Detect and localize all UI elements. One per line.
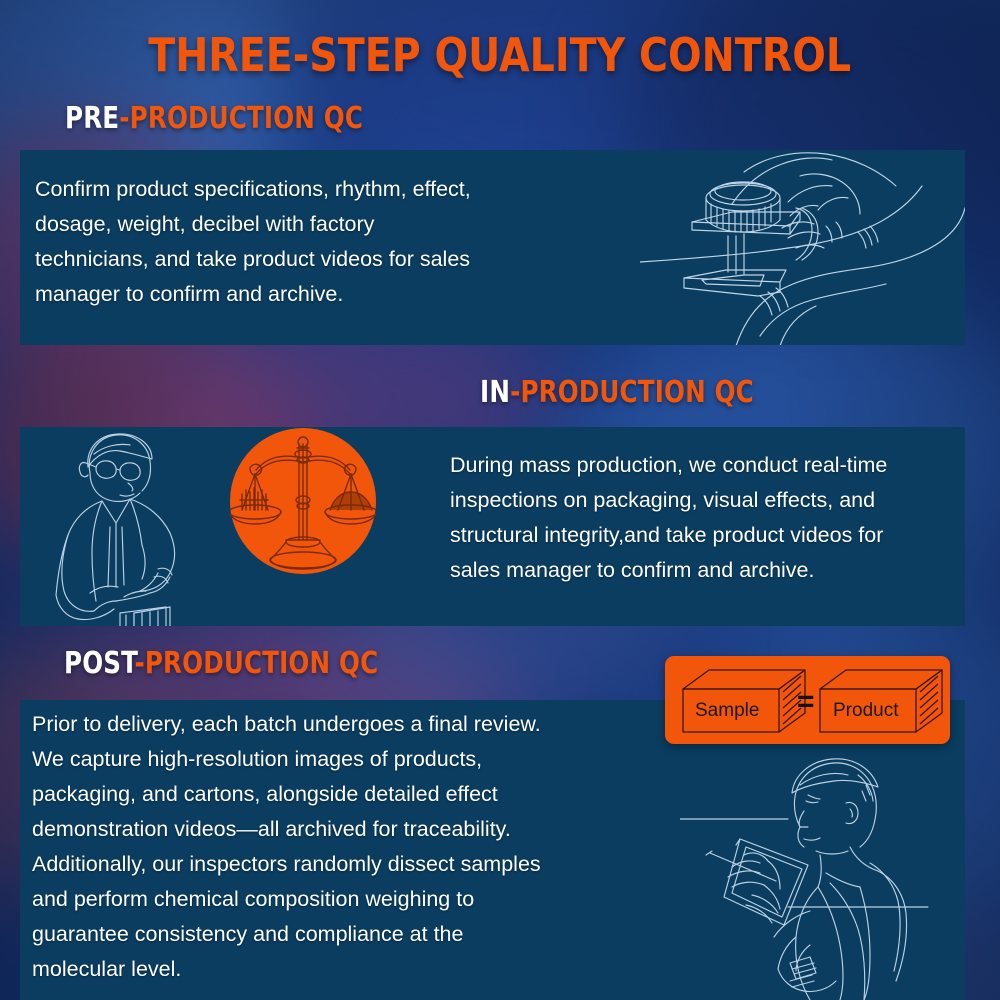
- balance-scale-badge: [230, 428, 376, 574]
- sample-label: Sample: [695, 700, 759, 722]
- heading-post-production-orange: -PRODUCTION QC: [134, 646, 378, 681]
- body-pre-production: Confirm product specifications, rhythm, …: [35, 172, 635, 312]
- page-title-text: THREE-STEP QUALITY CONTROL: [149, 32, 852, 78]
- body-in-production: During mass production, we conduct real-…: [450, 448, 980, 588]
- infographic-page: THREE-STEP QUALITY CONTROL PRE-PRODUCTIO…: [0, 0, 1000, 1000]
- man-with-tablet-icon: [680, 755, 970, 1000]
- heading-in-production-white: IN: [480, 375, 510, 410]
- heading-pre-production-white: PRE: [65, 101, 119, 136]
- body-post-production: Prior to delivery, each batch undergoes …: [32, 707, 672, 987]
- inspector-weighing-icon: [24, 427, 264, 626]
- product-label: Product: [833, 700, 898, 722]
- hands-holding-device-icon: [640, 150, 965, 345]
- equals-sign: =: [797, 685, 815, 719]
- heading-post-production: POST-PRODUCTION QC: [64, 649, 378, 679]
- heading-pre-production: PRE-PRODUCTION QC: [65, 104, 363, 134]
- heading-pre-production-orange: -PRODUCTION QC: [119, 101, 363, 136]
- heading-in-production: IN-PRODUCTION QC: [480, 378, 754, 408]
- heading-in-production-orange: -PRODUCTION QC: [510, 375, 754, 410]
- heading-post-production-white: POST: [64, 646, 134, 681]
- page-title: THREE-STEP QUALITY CONTROL: [0, 32, 1000, 78]
- sample-equals-product-callout: Sample = Product: [665, 656, 950, 744]
